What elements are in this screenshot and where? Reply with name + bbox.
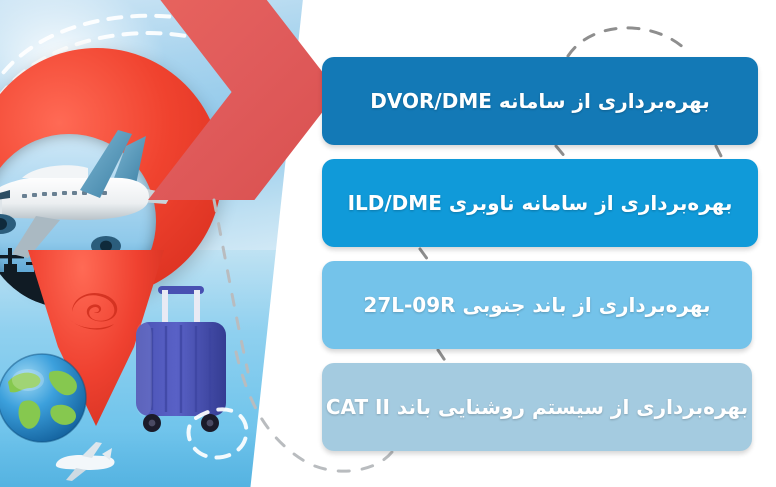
- list-item-cat-ii-lighting[interactable]: بهره‌برداری از سیستم روشنایی باند CAT II: [322, 363, 752, 451]
- list-item-label: بهره‌برداری از باند جنوبی 27L-09R: [363, 293, 710, 317]
- infographic-canvas: بهره‌برداری از سامانه DVOR/DME بهره‌بردا…: [0, 0, 776, 487]
- list-item-label: بهره‌برداری از سامانه ناوبری ILD/DME: [348, 191, 733, 215]
- list-item-label: بهره‌برداری از سیستم روشنایی باند CAT II: [326, 395, 748, 419]
- list-item-label: بهره‌برداری از سامانه DVOR/DME: [370, 89, 709, 113]
- list-item-runway-27l-09r[interactable]: بهره‌برداری از باند جنوبی 27L-09R: [322, 261, 752, 349]
- bar-list: بهره‌برداری از سامانه DVOR/DME بهره‌بردا…: [0, 0, 776, 487]
- list-item-ild-dme[interactable]: بهره‌برداری از سامانه ناوبری ILD/DME: [322, 159, 758, 247]
- list-item-dvor-dme[interactable]: بهره‌برداری از سامانه DVOR/DME: [322, 57, 758, 145]
